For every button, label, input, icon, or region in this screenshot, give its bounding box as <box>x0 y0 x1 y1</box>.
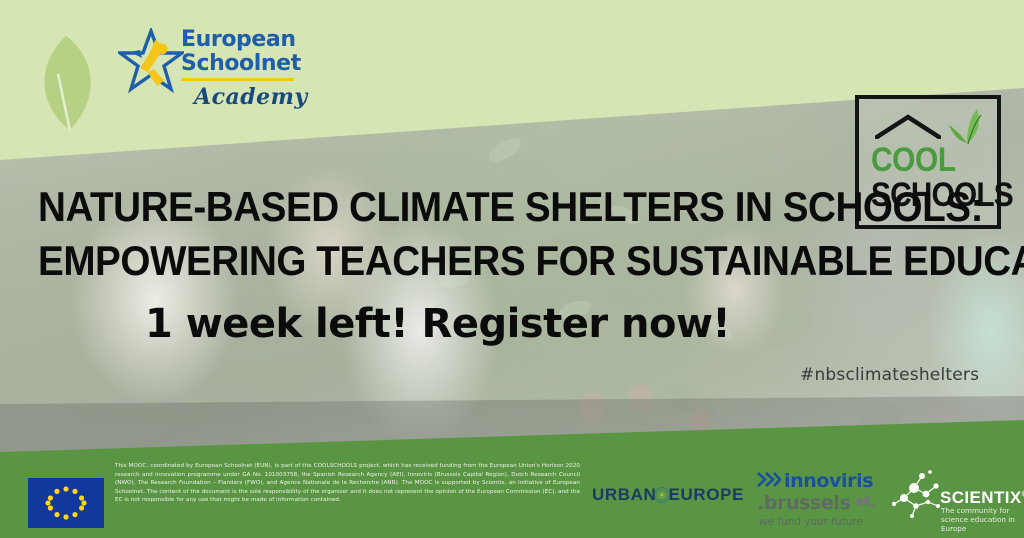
headline-line-1: NATURE-BASED CLIMATE SHELTERS IN SCHOOLS… <box>38 180 774 234</box>
scientix-logo: SCIENTIX® The community for science educ… <box>892 468 1012 526</box>
innoviris-name: innoviris <box>784 470 873 492</box>
leaf-icon <box>30 34 102 134</box>
call-to-action-text: 1 week left! Register now! <box>145 300 730 348</box>
urban-europe-logo: URBAN EUROPE <box>592 482 744 508</box>
roof-chevron-icon <box>875 113 941 139</box>
esn-line-schoolnet: Schoolnet <box>181 52 296 76</box>
scientix-wordmark: SCIENTIX <box>940 488 1022 507</box>
cool-word: COOL <box>871 143 975 177</box>
scientix-tagline: The community for science education in E… <box>941 506 1021 533</box>
star-person-icon <box>118 28 184 94</box>
innoviris-tagline: we fund your future <box>759 516 877 528</box>
double-chevron-icon <box>757 472 781 487</box>
iris-flower-icon <box>854 493 877 509</box>
esn-wordmark: European Schoolnet Academy <box>181 28 296 110</box>
esn-academy-label: Academy <box>194 84 296 110</box>
headline-line-2: EMPOWERING TEACHERS FOR SUSTAINABLE EDUC… <box>38 234 774 288</box>
innoviris-logo: innoviris .brussels we fund your future <box>757 470 877 526</box>
headline-block: NATURE-BASED CLIMATE SHELTERS IN SCHOOLS… <box>38 180 838 288</box>
esn-yellow-rule <box>181 78 294 81</box>
european-schoolnet-academy-logo: European Schoolnet Academy <box>118 28 293 110</box>
innoviris-suffix-row: .brussels <box>757 492 877 514</box>
campaign-hashtag: #nbsclimateshelters <box>800 365 979 385</box>
innoviris-name-row: innoviris <box>757 470 877 492</box>
promotional-banner: European Schoolnet Academy COOL SCHOOLS … <box>0 0 1024 538</box>
leaf-sprig-icon <box>947 107 987 145</box>
esn-line-european: European <box>181 28 296 52</box>
urban-europe-word-1: URBAN <box>592 485 656 505</box>
innoviris-brussels: .brussels <box>757 492 850 514</box>
urban-europe-word-2: EUROPE <box>669 485 744 505</box>
european-union-flag-icon <box>28 478 104 528</box>
funding-disclaimer: This MOOC, coordinated by European Schoo… <box>115 462 580 505</box>
scientix-name: SCIENTIX® <box>940 488 1024 508</box>
